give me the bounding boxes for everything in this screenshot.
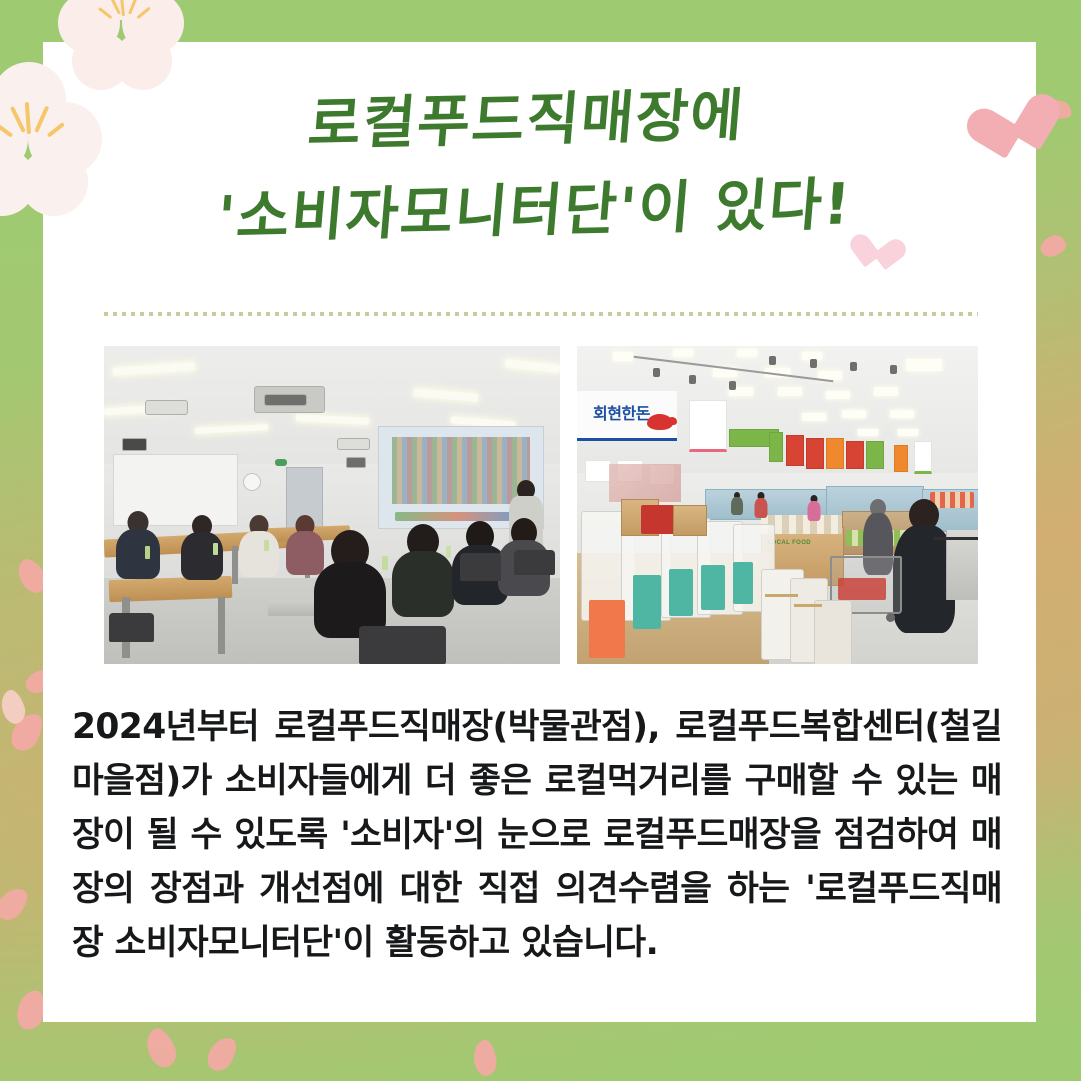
office-chair [514, 550, 555, 575]
ceiling-speaker [122, 438, 147, 451]
ceiling-panel-light [673, 349, 693, 357]
page-title-line-2: '소비자모니터단'이 있다! [40, 173, 1040, 251]
counter-divider-bar [934, 537, 978, 540]
hanging-banner [689, 400, 727, 452]
ceiling-panel-light [898, 429, 918, 437]
person-shopper [729, 492, 745, 521]
spotlight-icon [890, 365, 897, 374]
ceiling-panel-light [890, 410, 914, 418]
ceiling-panel-light [778, 387, 802, 396]
spotlight-icon [729, 381, 736, 390]
ceiling-panel-light [737, 349, 757, 357]
cart-wheel [886, 613, 895, 622]
spotlight-icon [689, 375, 696, 384]
photo-local-food-store: 회현한돈 [577, 346, 978, 664]
ceiling-panel-light [613, 352, 633, 360]
spotlight-icon [769, 356, 776, 365]
person-seated-back [391, 524, 455, 626]
exit-sign [275, 459, 287, 466]
heart-icon [848, 234, 887, 273]
beverage-bottle [382, 556, 388, 570]
cart-contents [838, 578, 886, 600]
hanging-banner [894, 445, 908, 472]
body-paragraph: 2024년부터 로컬푸드직매장(박물관점), 로컬푸드복합센터(철길마을점)가 … [72, 700, 1002, 970]
table-leg [218, 597, 225, 654]
hanging-banner [846, 441, 864, 468]
person-seated [177, 515, 227, 588]
wall-photo-mural [609, 464, 681, 502]
body-paragraph-text: 2024년부터 로컬푸드직매장(박물관점), 로컬푸드복합센터(철길마을점)가 … [72, 700, 1002, 970]
dotted-divider [104, 312, 978, 316]
photo-consumer-monitoring-meeting [104, 346, 560, 664]
person-shopper [753, 492, 769, 524]
store-brand-sign-label: 회현한돈 [593, 400, 650, 424]
hanging-banner [826, 438, 844, 469]
wall-poster [585, 460, 611, 481]
hanging-banner [786, 435, 804, 466]
hanging-banner [914, 441, 932, 474]
projector-lens [264, 394, 307, 407]
hanging-banner [769, 432, 783, 463]
rice-sack [814, 600, 852, 664]
ceiling-panel-light [802, 413, 826, 421]
ceiling-panel-light [858, 429, 878, 437]
ceiling-panel-light [874, 387, 898, 396]
ceiling-vent [145, 400, 188, 415]
spotlight-icon [810, 359, 817, 368]
ceiling-panel-light [826, 391, 850, 400]
product-label [733, 562, 753, 603]
rice-sack-stripe [765, 594, 797, 597]
pig-logo-icon [647, 414, 673, 430]
person-seated [236, 515, 282, 585]
beverage-bottle [446, 546, 451, 558]
ceiling-panel-light [906, 359, 942, 372]
office-chair [109, 613, 155, 642]
product-label [589, 600, 625, 657]
ceiling-speaker [346, 457, 366, 467]
title-block: 로컬푸드직매장에 '소비자모니터단'이 있다! [43, 92, 1036, 240]
beverage-bottle [213, 543, 218, 555]
checkout-counter [946, 530, 978, 600]
promotional-card: 로컬푸드직매장에 '소비자모니터단'이 있다! [0, 0, 1081, 1081]
person-shopper [806, 495, 822, 527]
hanging-banner [866, 441, 884, 468]
office-chair [359, 626, 446, 664]
product-label [669, 569, 693, 617]
rice-sack-stripe [794, 604, 822, 607]
ceiling-panel-light [842, 410, 866, 418]
spotlight-icon [850, 362, 857, 371]
beverage-bottle [145, 546, 150, 559]
product-carton [673, 505, 707, 536]
beverage-bottle [264, 540, 269, 551]
page-title-line-1: 로컬푸드직매장에 [40, 82, 1040, 160]
product-label [633, 575, 661, 629]
person-seated [113, 511, 163, 587]
ceiling-vent [337, 438, 371, 450]
product-label [701, 565, 725, 610]
office-chair [460, 553, 501, 582]
spotlight-icon [653, 368, 660, 377]
photo-row: 회현한돈 [104, 346, 978, 664]
hanging-banner [806, 438, 824, 469]
